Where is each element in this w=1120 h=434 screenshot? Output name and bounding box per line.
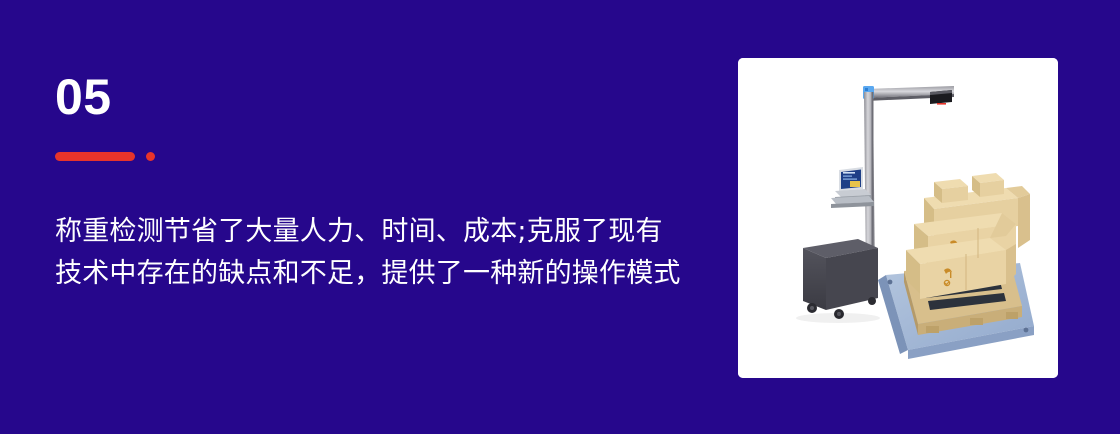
arm-connector-detail [865, 88, 868, 91]
accent-bar [55, 152, 135, 161]
body-paragraph: 称重检测节省了大量人力、时间、成本;克服了现有技术中存在的缺点和不足，提供了一种… [55, 211, 685, 295]
cabinet-left-face [803, 248, 826, 310]
laptop-screen-image [850, 181, 860, 187]
cabinet-caster-hub [810, 306, 814, 310]
accent-divider [55, 151, 155, 161]
section-number: 05 [55, 72, 112, 122]
left-content-column: 05 称重检测节省了大量人力、时间、成本;克服了现有技术中存在的缺点和不足，提供… [55, 0, 695, 434]
box-right-face [1018, 194, 1030, 248]
laptop-screen-line [843, 179, 857, 180]
scale-platform-bolt [1024, 328, 1029, 333]
sensor-indicator-icon [937, 103, 946, 105]
pallet-foot [926, 326, 939, 333]
accent-dot [146, 152, 155, 161]
cabinet-caster [868, 297, 876, 305]
laptop-screen-titlebar [843, 172, 855, 174]
laptop-screen-line [843, 176, 852, 177]
product-image-card [738, 58, 1058, 378]
box-front-face [980, 180, 1004, 197]
box-front-face [942, 186, 968, 203]
pallet-foot [970, 318, 983, 325]
scale-platform-bolt [888, 280, 893, 285]
cabinet-shadow [796, 313, 880, 323]
slide-root: 05 称重检测节省了大量人力、时间、成本;克服了现有技术中存在的缺点和不足，提供… [0, 0, 1120, 434]
pallet-foot [1006, 312, 1018, 319]
product-illustration [738, 58, 1058, 378]
